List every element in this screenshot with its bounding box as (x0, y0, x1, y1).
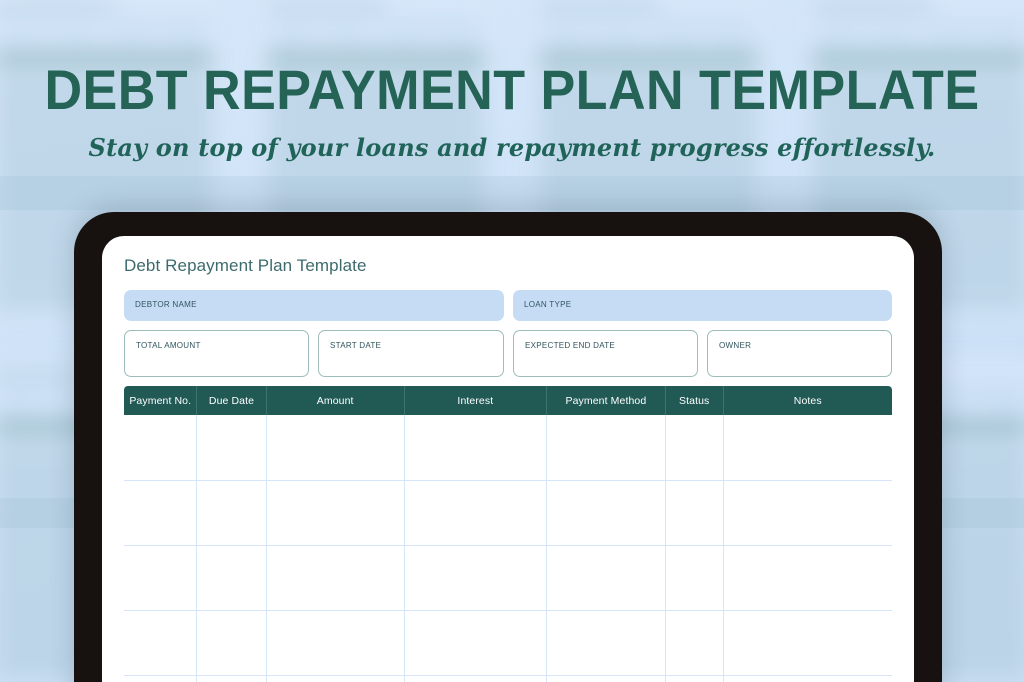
table-cell[interactable] (665, 480, 723, 545)
background-band (0, 176, 1024, 210)
table-cell[interactable] (197, 545, 266, 610)
column-header-payment-method[interactable]: Payment Method (546, 386, 665, 415)
table-cell[interactable] (266, 415, 404, 480)
table-row (124, 545, 892, 610)
field-label: START DATE (330, 340, 381, 350)
form-row: TOTAL AMOUNTSTART DATEEXPECTED END DATEO… (124, 330, 892, 377)
tablet-screen: Debt Repayment Plan Template DEBTOR NAME… (102, 236, 914, 682)
table-cell[interactable] (665, 545, 723, 610)
column-header-due-date[interactable]: Due Date (197, 386, 266, 415)
repayment-schedule-table: Payment No.Due DateAmountInterestPayment… (124, 386, 892, 682)
field-label: TOTAL AMOUNT (136, 340, 201, 350)
table-cell[interactable] (197, 675, 266, 682)
table-cell[interactable] (404, 610, 546, 675)
table-cell[interactable] (665, 675, 723, 682)
page-subtitle: Stay on top of your loans and repayment … (0, 136, 1024, 160)
form-fields-area: DEBTOR NAMELOAN TYPETOTAL AMOUNTSTART DA… (124, 290, 892, 377)
table-cell[interactable] (723, 545, 892, 610)
page-root: DEBT REPAYMENT PLAN TEMPLATE Stay on top… (0, 0, 1024, 682)
column-header-payment-no[interactable]: Payment No. (124, 386, 197, 415)
table-cell[interactable] (723, 610, 892, 675)
table-cell[interactable] (665, 610, 723, 675)
table-cell[interactable] (266, 675, 404, 682)
table-cell[interactable] (404, 480, 546, 545)
column-header-status[interactable]: Status (665, 386, 723, 415)
table-cell[interactable] (723, 415, 892, 480)
field-label: LOAN TYPE (524, 299, 571, 309)
table-cell[interactable] (266, 545, 404, 610)
table-header-row: Payment No.Due DateAmountInterestPayment… (124, 386, 892, 415)
field-label: DEBTOR NAME (135, 299, 197, 309)
table-cell[interactable] (404, 545, 546, 610)
field-start-date[interactable]: START DATE (318, 330, 503, 377)
field-debtor-name[interactable]: DEBTOR NAME (124, 290, 504, 321)
table-cell[interactable] (124, 545, 197, 610)
page-title: DEBT REPAYMENT PLAN TEMPLATE (36, 62, 988, 118)
field-expected-end-date[interactable]: EXPECTED END DATE (513, 330, 698, 377)
table-cell[interactable] (266, 480, 404, 545)
table-row (124, 480, 892, 545)
table-cell[interactable] (197, 480, 266, 545)
table-cell[interactable] (124, 675, 197, 682)
table-cell[interactable] (124, 415, 197, 480)
hero-banner: DEBT REPAYMENT PLAN TEMPLATE Stay on top… (0, 0, 1024, 160)
table-row (124, 610, 892, 675)
sheet-title: Debt Repayment Plan Template (124, 256, 892, 276)
tablet-device-frame: Debt Repayment Plan Template DEBTOR NAME… (74, 212, 942, 682)
column-header-amount[interactable]: Amount (266, 386, 404, 415)
field-total-amount[interactable]: TOTAL AMOUNT (124, 330, 309, 377)
table-cell[interactable] (197, 415, 266, 480)
table-cell[interactable] (723, 480, 892, 545)
table-cell[interactable] (266, 610, 404, 675)
table-cell[interactable] (546, 610, 665, 675)
table-header: Payment No.Due DateAmountInterestPayment… (124, 386, 892, 415)
table-cell[interactable] (124, 480, 197, 545)
table-row (124, 675, 892, 682)
table-cell[interactable] (665, 415, 723, 480)
column-header-notes[interactable]: Notes (723, 386, 892, 415)
table-cell[interactable] (546, 675, 665, 682)
table-cell[interactable] (723, 675, 892, 682)
table-cell[interactable] (404, 675, 546, 682)
field-label: EXPECTED END DATE (525, 340, 615, 350)
table-row (124, 415, 892, 480)
table-cell[interactable] (546, 480, 665, 545)
table-cell[interactable] (404, 415, 546, 480)
form-row: DEBTOR NAMELOAN TYPE (124, 290, 892, 321)
field-label: OWNER (719, 340, 751, 350)
table-cell[interactable] (546, 415, 665, 480)
field-owner[interactable]: OWNER (707, 330, 892, 377)
column-header-interest[interactable]: Interest (404, 386, 546, 415)
field-loan-type[interactable]: LOAN TYPE (513, 290, 893, 321)
table-cell[interactable] (546, 545, 665, 610)
table-cell[interactable] (124, 610, 197, 675)
table-body (124, 415, 892, 682)
table-cell[interactable] (197, 610, 266, 675)
spreadsheet-sheet: Debt Repayment Plan Template DEBTOR NAME… (102, 236, 914, 682)
